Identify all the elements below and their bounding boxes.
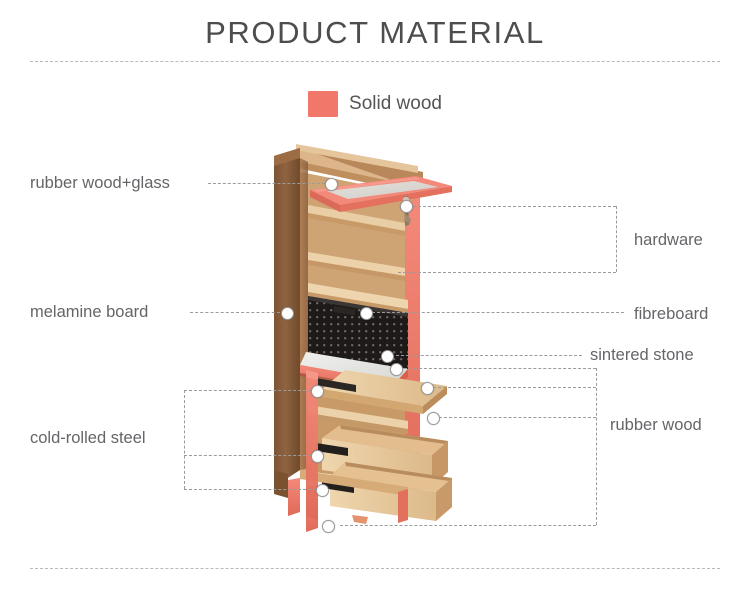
connector-dot-rubber-wood-leg xyxy=(322,520,335,533)
connector-dot-hardware xyxy=(400,200,413,213)
bracket-rubber-wood-branch-2 xyxy=(428,387,596,388)
label-rubber-wood: rubber wood xyxy=(610,415,702,435)
bracket-cold-rolled-steel-spine xyxy=(184,390,185,489)
bracket-rubber-wood-branch-3 xyxy=(434,417,596,418)
bracket-rubber-wood-branch-4 xyxy=(340,525,596,526)
label-fibreboard: fibreboard xyxy=(634,304,708,324)
leader-sintered-stone xyxy=(396,355,582,356)
product-material-infographic: PRODUCT MATERIAL Solid wood xyxy=(0,0,750,592)
bracket-cold-rolled-steel-branch-2 xyxy=(184,455,316,456)
connector-dot-steel-slide-bottom xyxy=(316,484,329,497)
leader-melamine-board xyxy=(190,312,285,313)
bracket-hardware-branch-2 xyxy=(398,272,616,273)
label-melamine-board: melamine board xyxy=(30,302,148,322)
label-rubber-wood-glass: rubber wood+glass xyxy=(30,173,170,193)
connector-dot-rubber-wood-glass xyxy=(325,178,338,191)
connector-dot-melamine-board xyxy=(281,307,294,320)
label-cold-rolled-steel: cold-rolled steel xyxy=(30,428,146,448)
cabinet-illustration xyxy=(0,0,750,592)
leader-rubber-wood-glass xyxy=(208,183,330,184)
connector-dot-steel-slide-top xyxy=(311,385,324,398)
bracket-cold-rolled-steel-branch-3 xyxy=(184,489,321,490)
connector-dot-sintered-stone xyxy=(381,350,394,363)
connector-dot-rubber-wood-desktop-edge xyxy=(390,363,403,376)
label-sintered-stone: sintered stone xyxy=(590,345,694,365)
connector-dot-rubber-wood-shelf xyxy=(427,412,440,425)
leader-fibreboard xyxy=(372,312,624,313)
bracket-rubber-wood-branch-1 xyxy=(404,368,596,369)
connector-dot-fibreboard xyxy=(360,307,373,320)
label-hardware: hardware xyxy=(634,230,703,250)
connector-dot-rubber-wood-tray xyxy=(421,382,434,395)
bracket-hardware-spine xyxy=(616,206,617,272)
connector-dot-steel-slide-mid xyxy=(311,450,324,463)
bracket-hardware-branch-1 xyxy=(408,206,616,207)
bracket-rubber-wood-spine xyxy=(596,368,597,525)
bracket-cold-rolled-steel-branch-1 xyxy=(184,390,316,391)
